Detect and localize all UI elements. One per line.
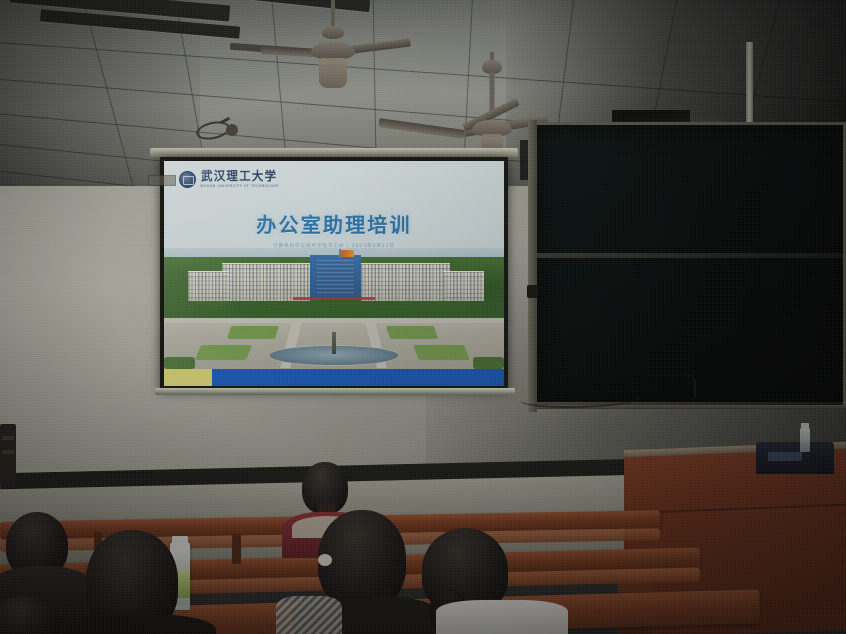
bench-leg (232, 534, 241, 564)
backpack-logo (768, 452, 802, 461)
building-center-glass (317, 260, 354, 296)
blackboard-frame-left (528, 120, 537, 412)
bottle-cap (172, 536, 188, 544)
campus-photo (164, 248, 504, 370)
blackboard (534, 122, 846, 408)
ceiling-fan (268, 0, 398, 105)
university-logo-text: 武汉理工大学 WUHAN UNIVERSITY OF TECHNOLOGY (201, 171, 278, 188)
slide-title: 办公室助理培训 (164, 209, 504, 238)
student-white-shirt (436, 600, 568, 634)
university-logo: 武汉理工大学 WUHAN UNIVERSITY OF TECHNOLOGY (179, 171, 278, 188)
hair-tie (318, 554, 332, 566)
wall-fan-bracket (196, 118, 242, 140)
campus-building-outerleft (188, 271, 229, 301)
campus-building-right (361, 263, 449, 300)
university-name-cn: 武汉理工大学 (201, 171, 278, 183)
chalk-holder (527, 285, 538, 298)
accent-bar-yellow (164, 369, 212, 386)
university-name-en: WUHAN UNIVERSITY OF TECHNOLOGY (200, 185, 279, 188)
chair-slat (2, 436, 14, 440)
campus-flag (341, 250, 354, 257)
wall-notice-frame (148, 175, 176, 186)
wooden-chair (0, 424, 16, 486)
flag-pole (339, 249, 341, 259)
projection-screen: 武汉理工大学 WUHAN UNIVERSITY OF TECHNOLOGY 办公… (160, 157, 508, 390)
screen-roller-housing (150, 148, 518, 157)
presentation-slide: 武汉理工大学 WUHAN UNIVERSITY OF TECHNOLOGY 办公… (164, 161, 504, 386)
campus-plaza (164, 318, 504, 369)
monument-pillar (332, 332, 336, 354)
hanging-cable (634, 372, 696, 398)
chair-slat (2, 450, 14, 454)
university-seal-icon (179, 171, 196, 188)
slide-accent-bar (164, 369, 504, 386)
bottle-cap (801, 423, 809, 429)
screen-weight-bar (155, 388, 515, 395)
campus-building-outerright (443, 271, 484, 301)
student-striped-shirt (276, 596, 342, 634)
building-banner (293, 297, 375, 300)
campus-building-left (222, 263, 310, 300)
water-bottle (800, 428, 810, 452)
accent-bar-blue (212, 369, 504, 386)
lecture-hall-photo: 武汉理工大学 WUHAN UNIVERSITY OF TECHNOLOGY 办公… (0, 0, 846, 634)
